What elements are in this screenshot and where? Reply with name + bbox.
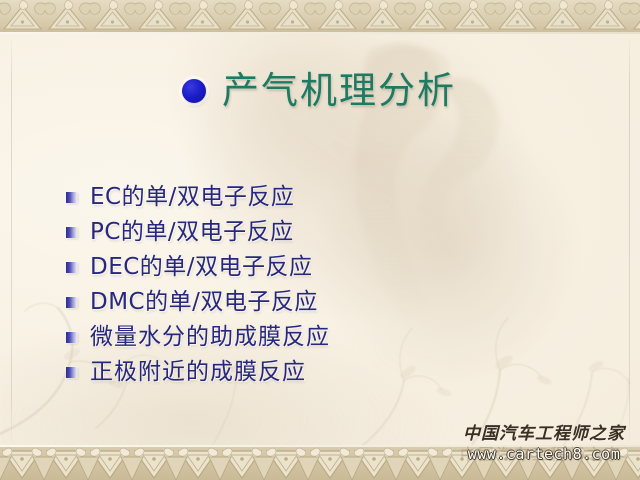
top-border-pattern: [0, 0, 640, 34]
watermark-chinese-text: 中国汽车工程师之家: [460, 424, 628, 444]
square-bullet-icon: [66, 367, 77, 378]
list-item-label: 正极附近的成膜反应: [90, 361, 306, 384]
watermark-url-text: www.cartech8.com: [460, 444, 628, 464]
top-decorative-border: [0, 0, 640, 34]
right-rule-line: [629, 34, 630, 446]
title-text: 产气机理分析: [222, 72, 456, 109]
list-item: 正极附近的成膜反应: [66, 355, 586, 390]
list-item-label: DMC的单/双电子反应: [90, 291, 318, 314]
square-bullet-icon: [66, 332, 77, 343]
list-item: EC的单/双电子反应: [66, 180, 586, 215]
square-bullet-icon: [66, 297, 77, 308]
list-item-label: 微量水分的助成膜反应: [90, 326, 330, 349]
square-bullet-icon: [66, 262, 77, 273]
list-item: DMC的单/双电子反应: [66, 285, 586, 320]
left-rule-line: [11, 34, 12, 446]
top-border-highlight: [0, 32, 640, 34]
title-bullet-icon: [182, 79, 206, 103]
list-item-label: DEC的单/双电子反应: [90, 256, 313, 279]
bullet-list: EC的单/双电子反应 PC的单/双电子反应 DEC的单/双电子反应 DMC的单/…: [66, 180, 586, 390]
watermark: 中国汽车工程师之家 www.cartech8.com: [460, 424, 628, 464]
list-item-label: EC的单/双电子反应: [90, 186, 294, 209]
list-item-label: PC的单/双电子反应: [90, 221, 294, 244]
list-item: PC的单/双电子反应: [66, 215, 586, 250]
square-bullet-icon: [66, 192, 77, 203]
slide-title: 产气机理分析: [182, 72, 456, 109]
presentation-slide: 产气机理分析 EC的单/双电子反应 PC的单/双电子反应 DEC的单/双电子反应…: [0, 0, 640, 480]
list-item: DEC的单/双电子反应: [66, 250, 586, 285]
list-item: 微量水分的助成膜反应: [66, 320, 586, 355]
square-bullet-icon: [66, 227, 77, 238]
